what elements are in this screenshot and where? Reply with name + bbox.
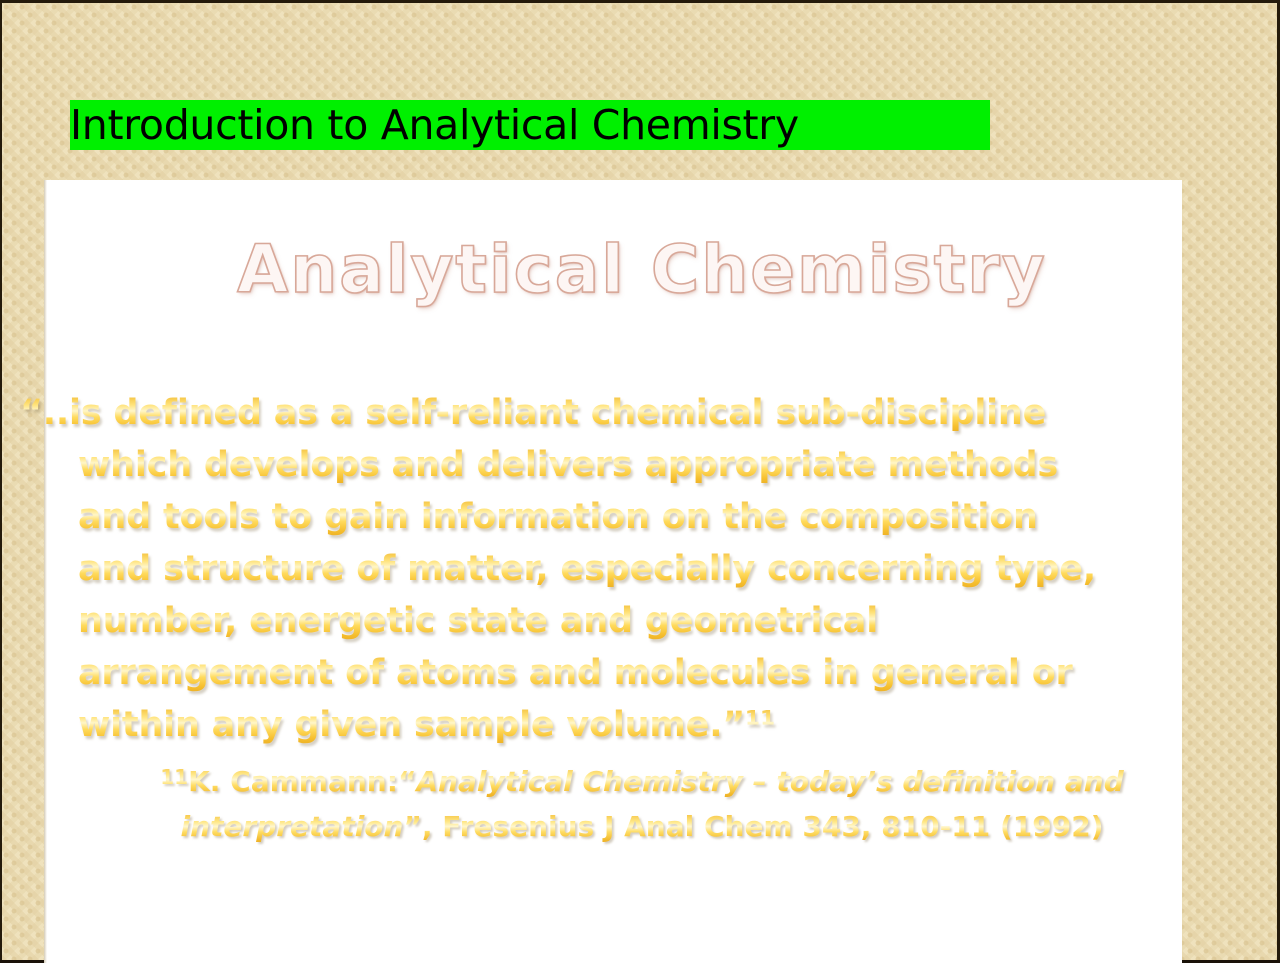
citation-work-title-part2: interpretation bbox=[180, 810, 403, 843]
quote-line: within any given sample volume.”¹¹ bbox=[20, 699, 1260, 751]
citation-source: , Fresenius J Anal Chem 343, 810-11 (199… bbox=[422, 810, 1104, 843]
citation-author: K. Cammann: bbox=[188, 765, 398, 798]
quote-line: and structure of matter, especially conc… bbox=[20, 543, 1260, 595]
wordart-heading-analytical-chemistry: Analytical Chemistry bbox=[2, 231, 1280, 308]
citation-marker: 11 bbox=[160, 765, 188, 789]
citation-line-1: 11K. Cammann:“Analytical Chemistry – tod… bbox=[2, 755, 1280, 804]
citation-quote-close: ” bbox=[403, 810, 421, 843]
quote-line: which develops and delivers appropriate … bbox=[20, 439, 1260, 491]
slide-title-bar: Introduction to Analytical Chemistry bbox=[70, 100, 990, 150]
quote-block: “..is defined as a self-reliant chemical… bbox=[20, 387, 1260, 751]
quote-line: “..is defined as a self-reliant chemical… bbox=[20, 387, 1260, 439]
citation-line-2: interpretation”, Fresenius J Anal Chem 3… bbox=[2, 804, 1280, 849]
slide-canvas: Introduction to Analytical Chemistry Ana… bbox=[0, 0, 1280, 960]
quote-line: number, energetic state and geometrical bbox=[20, 595, 1260, 647]
citation-block: 11K. Cammann:“Analytical Chemistry – tod… bbox=[2, 755, 1280, 849]
citation-quote-open: “ bbox=[398, 765, 416, 798]
slide-title-text: Introduction to Analytical Chemistry bbox=[70, 100, 990, 150]
citation-work-title-part1: Analytical Chemistry – today’s definitio… bbox=[416, 765, 1123, 798]
quote-line: arrangement of atoms and molecules in ge… bbox=[20, 647, 1260, 699]
quote-line: and tools to gain information on the com… bbox=[20, 491, 1260, 543]
